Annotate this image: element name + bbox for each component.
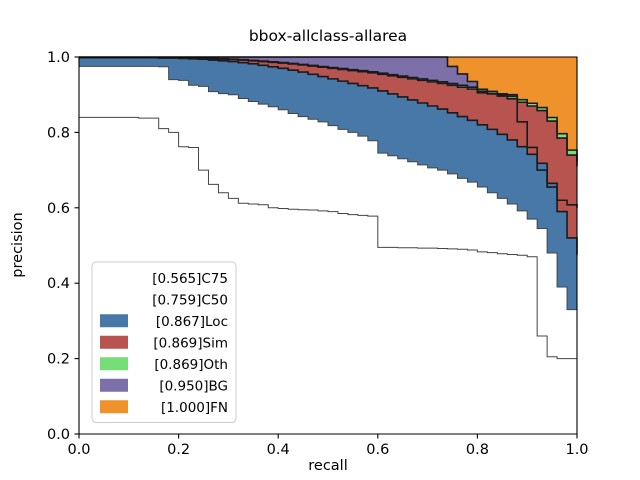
x-tick-label: 0.6 (366, 442, 389, 458)
legend-label-0[interactable]: [0.565]C75 (152, 271, 228, 287)
figure-canvas: 0.00.20.40.60.81.00.00.20.40.60.81.0 bbo… (0, 0, 640, 480)
y-tick-label: 0.0 (47, 427, 70, 443)
legend-label-4[interactable]: [0.869]Oth (154, 357, 228, 373)
y-tick-label: 0.8 (47, 125, 70, 141)
legend-swatch-5[interactable] (100, 379, 128, 392)
legend-label-1[interactable]: [0.759]C50 (152, 292, 228, 308)
legend[interactable]: [0.565]C75[0.759]C50[0.867]Loc[0.869]Sim… (92, 262, 236, 423)
y-axis-label: precision (10, 212, 26, 277)
legend-label-2[interactable]: [0.867]Loc (156, 314, 228, 330)
legend-swatch-6[interactable] (100, 400, 128, 413)
x-tick-label: 0.0 (67, 442, 90, 458)
y-tick-label: 0.2 (47, 352, 70, 368)
legend-label-5[interactable]: [0.950]BG (159, 378, 228, 394)
legend-swatch-3[interactable] (100, 336, 128, 349)
y-tick-label: 0.4 (47, 276, 70, 292)
x-tick-label: 1.0 (565, 442, 588, 458)
precision-recall-chart: 0.00.20.40.60.81.00.00.20.40.60.81.0 bbo… (0, 0, 640, 480)
legend-swatch-2[interactable] (100, 314, 128, 327)
x-tick-label: 0.8 (466, 442, 489, 458)
x-axis-label: recall (308, 458, 347, 474)
x-tick-label: 0.4 (267, 442, 290, 458)
chart-title: bbox-allclass-allarea (249, 27, 407, 45)
y-tick-label: 0.6 (47, 201, 70, 217)
y-tick-label: 1.0 (47, 50, 70, 66)
legend-label-6[interactable]: [1.000]FN (161, 400, 228, 416)
x-tick-label: 0.2 (167, 442, 190, 458)
legend-swatch-4[interactable] (100, 357, 128, 370)
legend-label-3[interactable]: [0.869]Sim (153, 335, 228, 351)
